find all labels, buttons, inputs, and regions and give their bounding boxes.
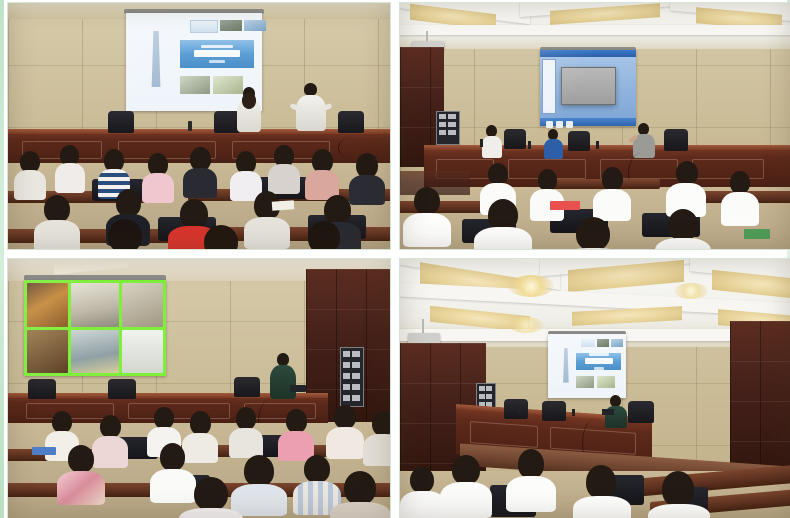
- photo-top-left[interactable]: [8, 3, 390, 249]
- landmark-tower: [145, 31, 167, 88]
- projection-screen: [540, 50, 636, 126]
- display-board: [436, 111, 460, 145]
- grid-tile-lounge: [122, 283, 163, 327]
- wall-wood-panel: [730, 321, 790, 471]
- desk-microphone: [572, 409, 575, 416]
- presenter: [270, 353, 296, 401]
- panel-chair: [338, 111, 364, 133]
- frame-left-edge: [0, 0, 4, 518]
- desk-microphone: [188, 121, 192, 131]
- panel-chair: [28, 379, 56, 399]
- grid-tile-guestroom: [71, 330, 120, 374]
- desk-microphone: [480, 139, 483, 147]
- panel-chair: [108, 111, 134, 133]
- desk-microphone: [518, 407, 521, 414]
- dialog-window: [561, 67, 616, 105]
- slide-thumb-3: [576, 376, 594, 388]
- book: [32, 447, 56, 455]
- ceiling: [400, 3, 790, 49]
- projection-screen: [548, 334, 626, 398]
- desk-microphone: [528, 141, 531, 149]
- slide-thumb-2: [244, 20, 266, 31]
- panel-chair: [504, 399, 528, 419]
- chandelier: [508, 317, 544, 333]
- slide-windows-desktop: [540, 50, 636, 126]
- photo-top-right[interactable]: [400, 3, 790, 249]
- landmark-tower: [559, 348, 573, 383]
- panel-chair: [542, 401, 566, 421]
- projection-screen: [24, 280, 166, 376]
- panel-chair: [504, 129, 526, 149]
- presenter-male: [294, 83, 328, 133]
- grid-tile-lobby: [27, 330, 68, 374]
- slide-logo: [190, 20, 218, 33]
- panel-chair: [664, 129, 688, 151]
- slide-thumb-1: [597, 339, 609, 347]
- grid-tile-room: [71, 283, 120, 327]
- slide-thumb-2: [611, 339, 623, 347]
- window-sidebar: [542, 59, 556, 114]
- desk-microphone: [596, 141, 599, 149]
- grid-tile-chart: [122, 330, 163, 374]
- photo-collage: [0, 0, 790, 518]
- slide-title-band: [576, 353, 621, 370]
- presenter-female: [236, 87, 262, 133]
- slide-title-band: [180, 40, 253, 67]
- slide-thumb-3: [180, 76, 210, 94]
- book: [550, 201, 580, 210]
- book: [744, 229, 770, 239]
- panel-chair: [108, 379, 136, 399]
- panel-chair: [568, 131, 590, 151]
- handout-paper: [272, 200, 295, 211]
- display-board: [340, 347, 364, 407]
- chandelier: [508, 275, 554, 297]
- laptop: [602, 409, 614, 415]
- chandelier: [674, 283, 708, 299]
- taskbar: [540, 118, 636, 126]
- slide-logo: [581, 339, 595, 347]
- photo-bottom-right[interactable]: [400, 259, 790, 518]
- slide-title: [548, 334, 626, 398]
- panel-chair: [628, 401, 654, 423]
- slide-thumb-1: [220, 20, 242, 31]
- grid-tile-catering: [27, 283, 68, 327]
- slide-photo-grid: [24, 280, 166, 376]
- slide-thumb-4: [597, 376, 615, 388]
- window-titlebar: [540, 50, 636, 57]
- laptop: [290, 385, 306, 392]
- panel-chair: [234, 377, 260, 397]
- photo-bottom-left[interactable]: [8, 259, 390, 518]
